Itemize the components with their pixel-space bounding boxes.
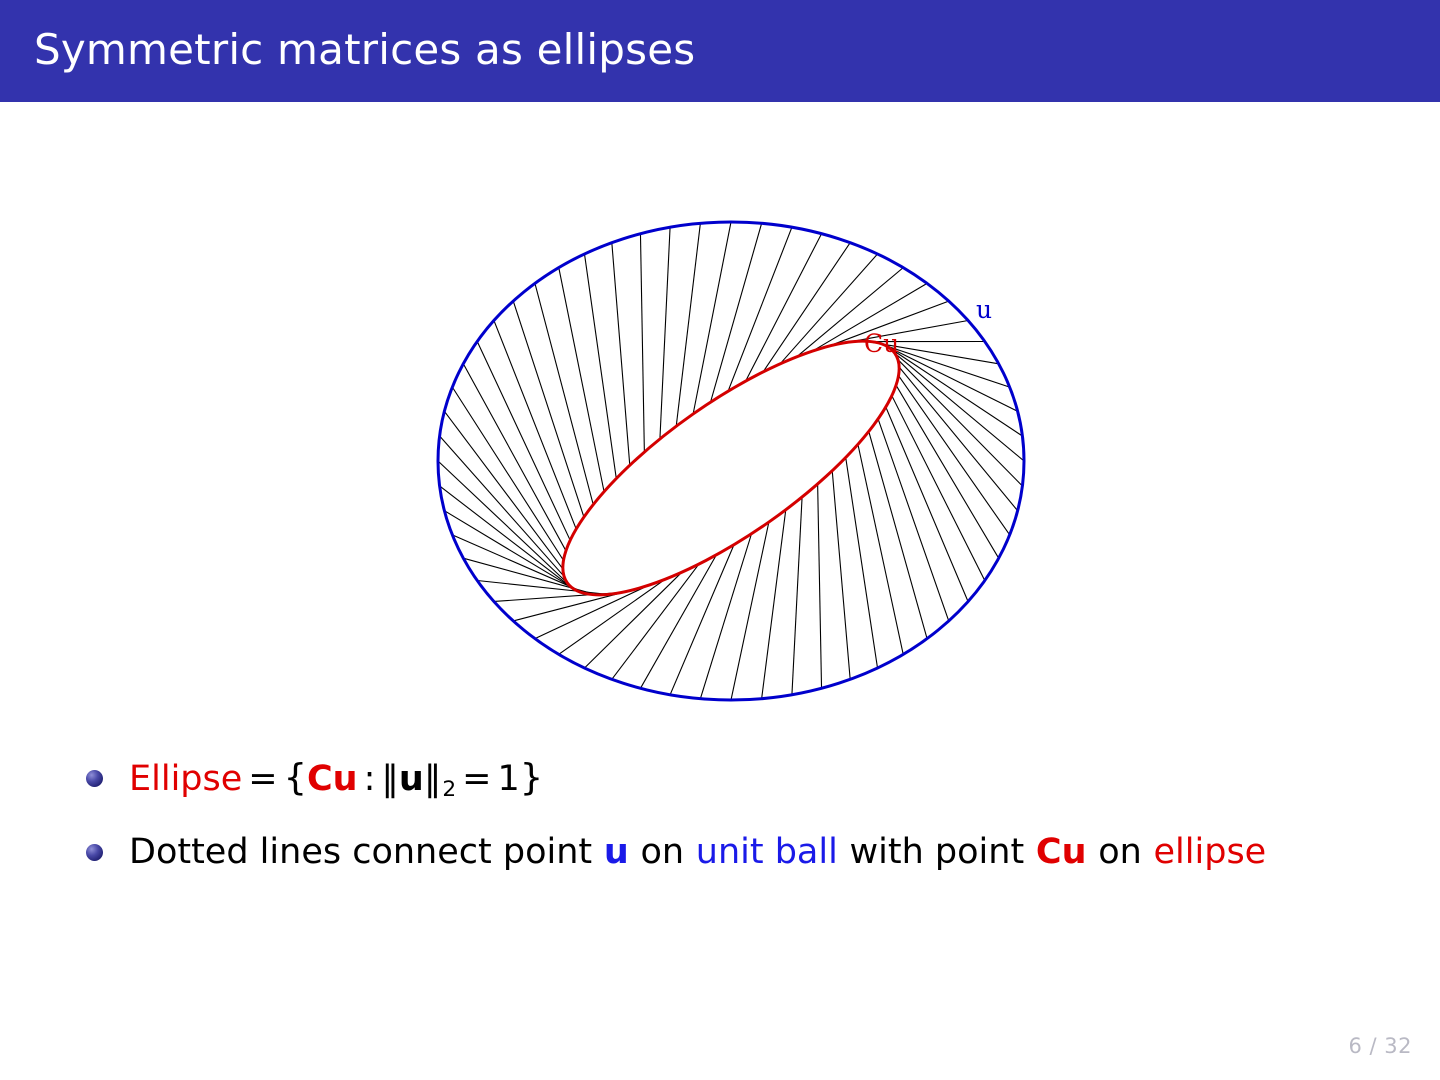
bullet-text-part: on	[1098, 832, 1142, 872]
connector-line	[444, 411, 562, 569]
connector-line	[858, 444, 903, 654]
bullet-text-part: :	[358, 759, 382, 799]
connector-line	[846, 457, 878, 668]
connector-line	[444, 511, 578, 592]
connector-line	[585, 254, 617, 479]
connector-lines-group	[438, 222, 1024, 700]
bullet-text-part: =	[242, 759, 283, 799]
connector-line	[612, 243, 630, 466]
bullet-text-part: Cu	[307, 759, 358, 799]
bullet-text-part: with point	[850, 832, 1025, 872]
connector-line	[438, 461, 567, 583]
page-title: Symmetric matrices as ellipses	[0, 29, 695, 71]
connector-line	[452, 387, 563, 560]
connector-line	[792, 497, 802, 695]
bullet-text-part: =	[456, 759, 497, 799]
bullet-text-part: Cu	[1036, 832, 1087, 872]
connector-line	[585, 572, 682, 668]
bullet-text-part: ‖	[381, 759, 399, 799]
connector-line	[895, 353, 1024, 461]
bullet-text-part: 1	[497, 759, 519, 799]
page-number: 6 / 32	[1348, 1034, 1412, 1058]
figure-container: u Cu	[420, 200, 1030, 720]
outer-ellipse-label-u: u	[976, 295, 992, 324]
connector-line	[746, 234, 822, 381]
connector-line	[640, 234, 644, 452]
connector-line	[731, 522, 769, 700]
inner-ellipse-label-cu: Cu	[864, 329, 899, 358]
bullet-text-part: ‖	[424, 759, 442, 799]
bullet-list: Ellipse={Cu:‖u‖2=1} Dotted lines connect…	[86, 752, 1386, 900]
connector-line	[898, 360, 1023, 486]
bullet-text-part: 2	[441, 777, 456, 802]
bullet-text-part: unit ball	[696, 832, 838, 872]
connector-line	[494, 321, 576, 530]
slide-header-bar: Symmetric matrices as ellipses	[0, 0, 1440, 102]
bullet-text-part: u	[399, 759, 424, 799]
connector-line	[660, 227, 670, 439]
bullet-text-part: }	[520, 756, 543, 799]
list-item: Dotted lines connect point u on unit bal…	[86, 826, 1386, 882]
connector-line	[818, 484, 822, 688]
bullet-text-part: on	[640, 832, 684, 872]
connector-line	[883, 345, 1017, 412]
bullet-text-part: Dotted lines connect point	[129, 832, 592, 872]
bullet-text-part: {	[284, 756, 307, 799]
connector-line	[693, 222, 731, 414]
bullet-text-part: u	[604, 832, 629, 872]
connector-line	[832, 471, 850, 680]
connector-line	[896, 385, 999, 558]
bullet-text-1: Dotted lines connect point u on unit bal…	[129, 826, 1266, 878]
bullet-text-part: Ellipse	[129, 759, 242, 799]
bullet-text-part: ellipse	[1154, 832, 1267, 872]
sphere-bullet-icon	[86, 770, 103, 787]
bullet-text-0: Ellipse={Cu:‖u‖2=1}	[129, 752, 543, 816]
list-item: Ellipse={Cu:‖u‖2=1}	[86, 752, 1386, 808]
connector-line	[892, 396, 985, 581]
sphere-bullet-icon	[86, 844, 103, 861]
unit-ball-to-ellipse-diagram: u Cu	[420, 200, 1030, 720]
outer-ellipse-unit-ball	[438, 222, 1024, 700]
connector-line	[440, 436, 565, 576]
connector-line	[899, 367, 1017, 511]
